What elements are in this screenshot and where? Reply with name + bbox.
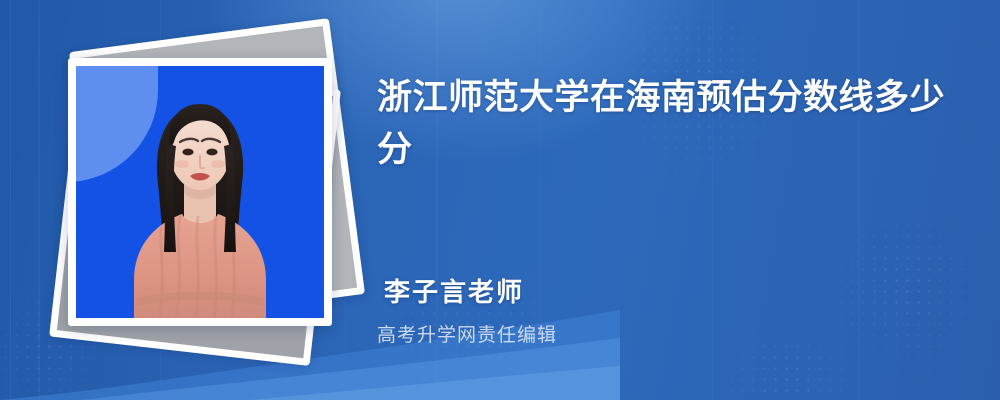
photo-stack — [48, 30, 348, 350]
author-photo-frame — [68, 58, 332, 326]
portrait-illustration — [76, 66, 324, 318]
text-column: 浙江师范大学在海南预估分数线多少分 李子言老师 高考升学网责任编辑 — [377, 0, 967, 400]
author-role: 高考升学网责任编辑 — [377, 320, 557, 347]
author-name: 李子言老师 — [384, 272, 524, 309]
page-title: 浙江师范大学在海南预估分数线多少分 — [377, 72, 947, 176]
article-cover-banner: 浙江师范大学在海南预估分数线多少分 李子言老师 高考升学网责任编辑 — [0, 0, 1000, 400]
author-photo — [76, 66, 324, 318]
